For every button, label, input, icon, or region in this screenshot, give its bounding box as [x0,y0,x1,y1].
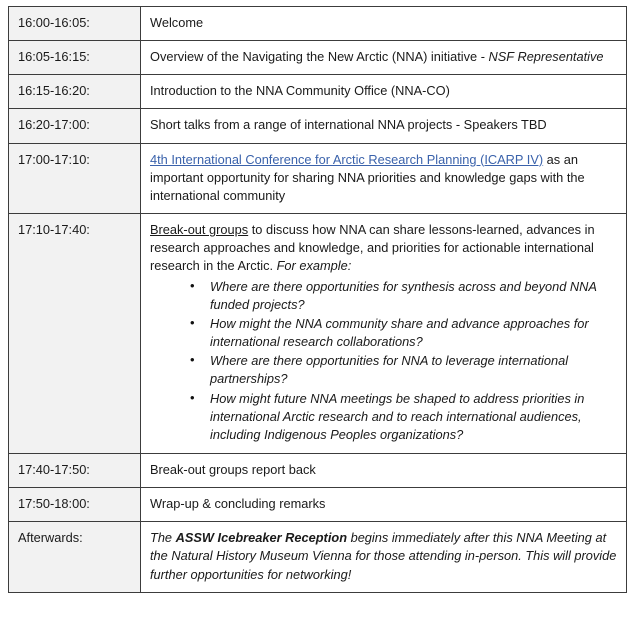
row-time-cell: 17:10-17:40: [9,214,141,454]
time-label: 16:15-16:20: [18,83,90,98]
agenda-table-body: 16:00-16:05: Welcome 16:05-16:15: Overvi… [9,7,627,593]
row-description-cell: Overview of the Navigating the New Arcti… [141,41,627,75]
time-label: Afterwards: [18,530,83,545]
time-label: 17:40-17:50: [18,462,90,477]
table-row: 16:20-17:00: Short talks from a range of… [9,109,627,143]
time-label: 16:20-17:00: [18,117,90,132]
row-description-cell: Welcome [141,7,627,41]
row-time-cell: 17:00-17:10: [9,143,141,213]
description-text: Overview of the Navigating the New Arcti… [150,49,489,64]
breakout-groups-heading: Break-out groups [150,222,248,237]
time-label: 17:00-17:10: [18,152,90,167]
agenda-container: 16:00-16:05: Welcome 16:05-16:15: Overvi… [0,0,637,593]
table-row: 17:00-17:10: 4th International Conferenc… [9,143,627,213]
row-time-cell: Afterwards: [9,522,141,592]
row-time-cell: 16:00-16:05: [9,7,141,41]
description-text: Welcome [150,15,203,30]
row-description-cell: 4th International Conference for Arctic … [141,143,627,213]
description-text: The [150,530,176,545]
description-text: Introduction to the NNA Community Office… [150,83,450,98]
table-row: 17:50-18:00: Wrap-up & concluding remark… [9,488,627,522]
row-description-cell: Break-out groups to discuss how NNA can … [141,214,627,454]
table-row: 16:00-16:05: Welcome [9,7,627,41]
row-time-cell: 17:40-17:50: [9,453,141,487]
row-time-cell: 16:05-16:15: [9,41,141,75]
table-row: Afterwards: The ASSW Icebreaker Receptio… [9,522,627,592]
table-row: 17:10-17:40: Break-out groups to discuss… [9,214,627,454]
list-item: Where are there opportunities for NNA to… [190,352,617,388]
row-description-cell: The ASSW Icebreaker Reception begins imm… [141,522,627,592]
time-label: 17:50-18:00: [18,496,90,511]
list-item: Where are there opportunities for synthe… [190,278,617,314]
row-time-cell: 16:15-16:20: [9,75,141,109]
agenda-table: 16:00-16:05: Welcome 16:05-16:15: Overvi… [8,6,627,593]
breakout-intro-paragraph: Break-out groups to discuss how NNA can … [150,221,617,275]
table-row: 16:05-16:15: Overview of the Navigating … [9,41,627,75]
table-row: 16:15-16:20: Introduction to the NNA Com… [9,75,627,109]
row-description-cell: Break-out groups report back [141,453,627,487]
table-row: 17:40-17:50: Break-out groups report bac… [9,453,627,487]
list-item: How might the NNA community share and ad… [190,315,617,351]
row-time-cell: 16:20-17:00: [9,109,141,143]
row-time-cell: 17:50-18:00: [9,488,141,522]
breakout-question-list: Where are there opportunities for synthe… [150,278,617,444]
list-item: How might future NNA meetings be shaped … [190,390,617,444]
description-text: Break-out groups report back [150,462,316,477]
row-description-cell: Introduction to the NNA Community Office… [141,75,627,109]
row-description-cell: Wrap-up & concluding remarks [141,488,627,522]
icarp-iv-link[interactable]: 4th International Conference for Arctic … [150,152,543,167]
description-emphasis: NSF Representative [489,49,604,64]
time-label: 17:10-17:40: [18,222,90,237]
description-text: Wrap-up & concluding remarks [150,496,325,511]
time-label: 16:00-16:05: [18,15,90,30]
time-label: 16:05-16:15: [18,49,90,64]
row-description-cell: Short talks from a range of internationa… [141,109,627,143]
assw-reception-name: ASSW Icebreaker Reception [176,530,347,545]
for-example-label: For example: [277,258,352,273]
description-text: Short talks from a range of internationa… [150,117,547,132]
